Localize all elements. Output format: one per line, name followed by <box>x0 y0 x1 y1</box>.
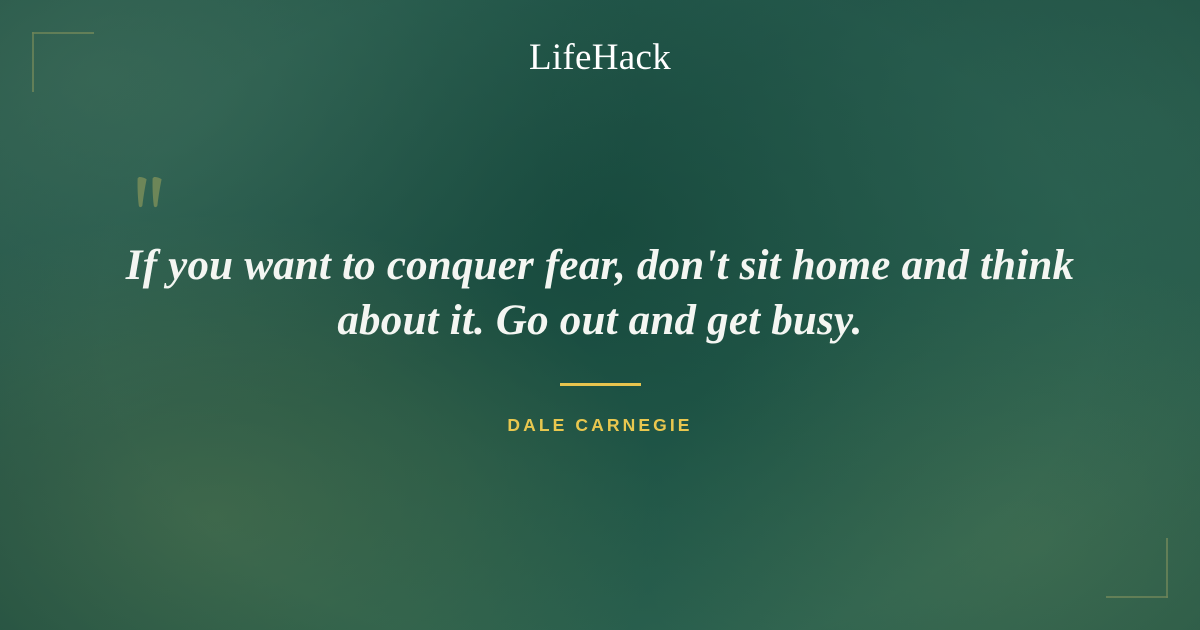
author-divider <box>560 383 641 386</box>
author-name: DALE CARNEGIE <box>0 415 1200 436</box>
double-quote-icon <box>131 159 191 219</box>
corner-bracket-top-line <box>32 32 94 34</box>
corner-bracket-right-line <box>1166 538 1168 598</box>
quote-text: If you want to conquer fear, don't sit h… <box>100 238 1100 348</box>
quote-card: LifeHack If you want to conquer fear, do… <box>0 0 1200 630</box>
corner-bracket-bottom-line <box>1106 596 1168 598</box>
corner-bracket-bottom-right-icon <box>1106 538 1168 598</box>
brand-logo: LifeHack <box>0 39 1200 76</box>
